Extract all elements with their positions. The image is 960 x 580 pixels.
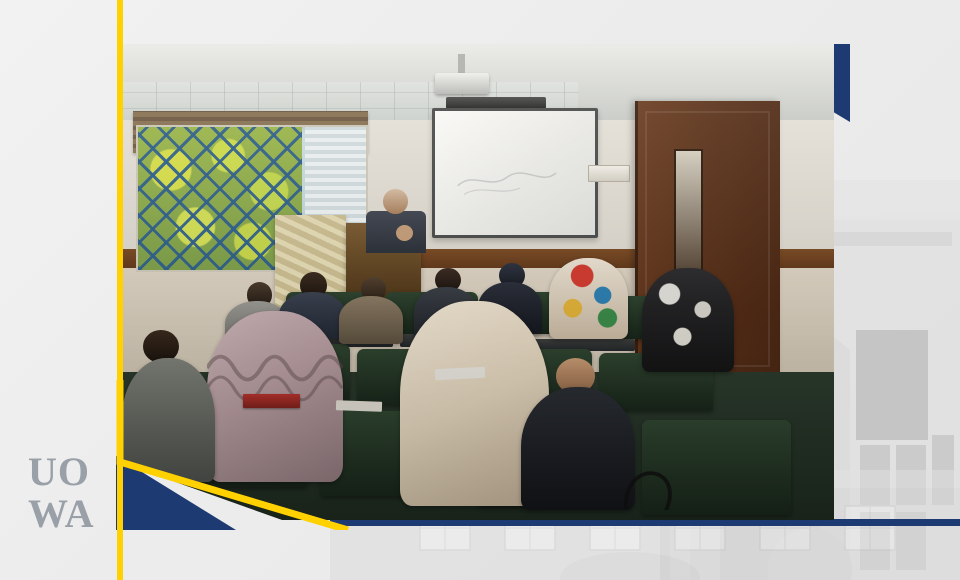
logo-line-2: WA <box>28 494 118 534</box>
wall-switch-plate <box>588 165 629 181</box>
speaker-head <box>383 189 409 214</box>
door-glass-panel <box>674 149 704 286</box>
whiteboard-writing <box>450 158 564 201</box>
whiteboard-sensor-bar <box>446 97 546 108</box>
uowa-logo: UO WA <box>28 452 118 538</box>
attendee-floral-scarf <box>642 268 735 373</box>
ceiling-projector <box>435 73 488 94</box>
attendee <box>339 296 403 344</box>
projector-mount <box>458 54 465 75</box>
navy-baseline-rule <box>330 519 960 526</box>
logo-line-1: UO <box>28 452 118 492</box>
poster-canvas: UO WA <box>0 0 960 580</box>
handbag-strap <box>606 444 691 511</box>
yellow-diagonal-rule <box>110 380 350 530</box>
attendee-patterned-scarf <box>549 258 627 339</box>
